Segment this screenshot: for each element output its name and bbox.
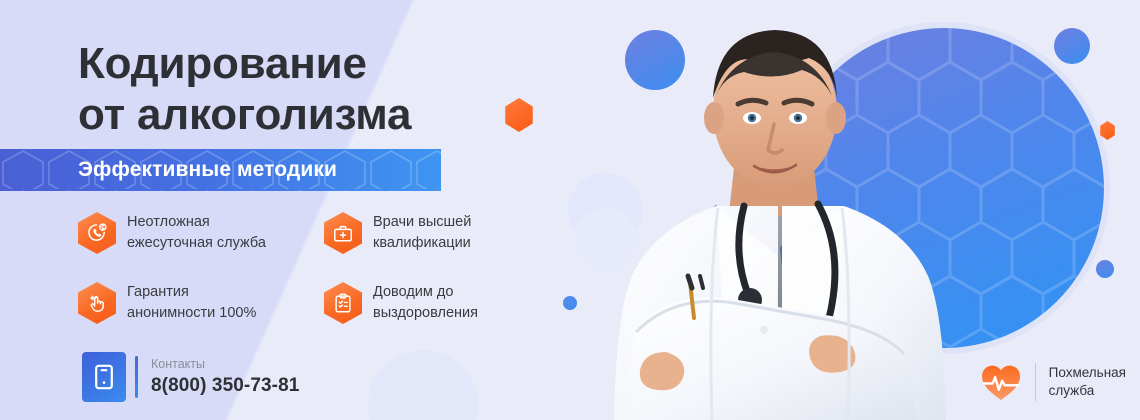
badge-label: Эффективные методики xyxy=(0,149,441,182)
logo-label-line-2: служба xyxy=(1049,382,1126,400)
doctor-photo xyxy=(566,0,996,420)
feature-label-line-1: Неотложная xyxy=(127,212,266,233)
contacts-info: Контакты 8(800) 350-73-81 xyxy=(151,357,299,397)
logo-divider xyxy=(1035,363,1036,401)
feature-item: Гарантия анонимности 100% xyxy=(78,280,324,350)
contacts-phone-number[interactable]: 8(800) 350-73-81 xyxy=(151,375,299,397)
phone-24h-icon: 24 xyxy=(78,212,116,254)
feature-label-line-2: ежесуточная служба xyxy=(127,233,266,254)
headline-line-1: Кодирование xyxy=(78,39,367,88)
feature-label-line-1: Врачи высшей xyxy=(373,212,471,233)
mobile-phone-icon xyxy=(82,352,126,402)
feature-item: Врачи высшей квалификации xyxy=(324,210,548,280)
feature-label-line-1: Доводим до xyxy=(373,282,478,303)
first-aid-kit-icon xyxy=(324,212,362,254)
feature-label: Доводим до выздоровления xyxy=(373,280,478,323)
feature-label: Гарантия анонимности 100% xyxy=(127,280,256,323)
feature-label-line-2: выздоровления xyxy=(373,303,478,324)
contacts-label: Контакты xyxy=(151,357,299,372)
feature-label-line-2: квалификации xyxy=(373,233,471,254)
anonymity-hand-icon xyxy=(78,282,116,324)
feature-item: 24 Неотложная ежесуточная служба xyxy=(78,210,324,280)
page-title: Кодирование от алкоголизма xyxy=(78,38,598,140)
headline-line-2: от алкоголизма xyxy=(78,89,598,140)
contacts-block[interactable]: Контакты 8(800) 350-73-81 xyxy=(82,352,299,402)
feature-label-line-2: анонимности 100% xyxy=(127,303,256,324)
feature-label-line-1: Гарантия xyxy=(127,282,256,303)
decorative-blue-dot-right-low xyxy=(1096,260,1114,278)
logo-label-line-1: Похмельная xyxy=(1049,364,1126,382)
feature-item: Доводим до выздоровления xyxy=(324,280,548,350)
promo-banner: Кодирование от алкоголизма Эффективные м… xyxy=(0,0,1140,420)
contacts-divider xyxy=(135,356,138,398)
svg-text:24: 24 xyxy=(100,225,106,230)
feature-label: Врачи высшей квалификации xyxy=(373,210,471,253)
heart-pulse-icon xyxy=(980,362,1022,402)
clipboard-checklist-icon xyxy=(324,282,362,324)
feature-list: 24 Неотложная ежесуточная служба Врачи в… xyxy=(78,210,548,350)
decorative-blue-circle-right-top xyxy=(1054,28,1090,64)
brand-logo[interactable]: Похмельная служба xyxy=(980,362,1126,402)
logo-label: Похмельная служба xyxy=(1049,364,1126,400)
feature-label: Неотложная ежесуточная служба xyxy=(127,210,266,253)
badge-banner: Эффективные методики xyxy=(0,149,441,191)
